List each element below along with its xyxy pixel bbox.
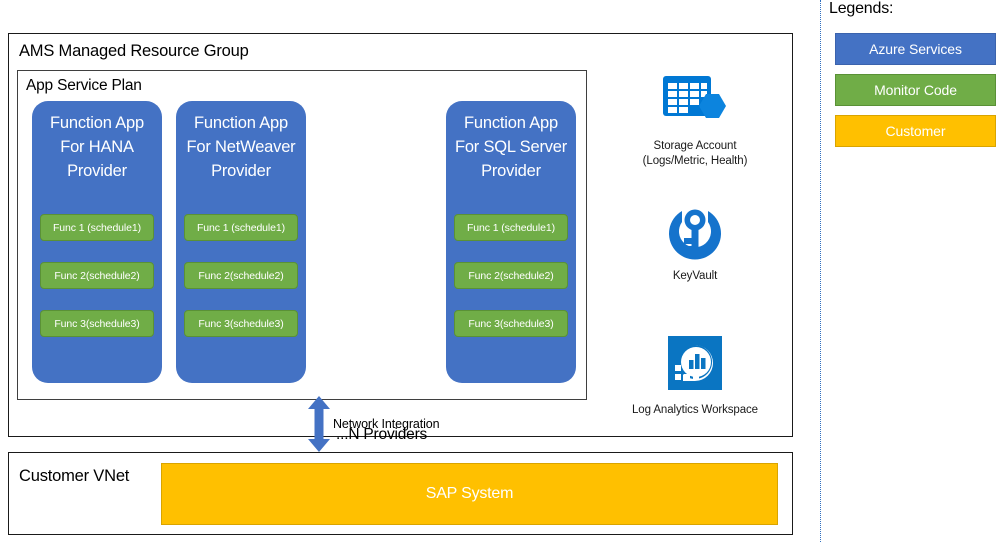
customer-vnet-container: Customer VNet SAP System — [8, 452, 793, 535]
function-list: Func 1 (schedule1) Func 2(schedule2) Fun… — [184, 214, 298, 358]
network-integration-label: Network Integration — [333, 417, 440, 431]
function-list: Func 1 (schedule1) Func 2(schedule2) Fun… — [454, 214, 568, 358]
storage-account-icon — [625, 70, 765, 136]
legend-title: Legends: — [829, 0, 893, 18]
function-app-title: Function App For SQL Server Provider — [450, 111, 572, 183]
function-app-card-hana[interactable]: Function App For HANA Provider Func 1 (s… — [32, 101, 162, 383]
function-item[interactable]: Func 2(schedule2) — [454, 262, 568, 289]
function-app-card-sql-server[interactable]: Function App For SQL Server Provider Fun… — [446, 101, 576, 383]
function-item[interactable]: Func 3(schedule3) — [184, 310, 298, 337]
function-item[interactable]: Func 2(schedule2) — [40, 262, 154, 289]
legend-divider — [820, 0, 821, 542]
keyvault-icon — [625, 200, 765, 266]
app-service-plan-container: App Service Plan Function App For HANA P… — [17, 70, 587, 400]
function-list: Func 1 (schedule1) Func 2(schedule2) Fun… — [40, 214, 154, 358]
service-caption: Storage Account (Logs/Metric, Health) — [625, 139, 765, 168]
function-item[interactable]: Func 1 (schedule1) — [40, 214, 154, 241]
service-caption: KeyVault — [625, 269, 765, 284]
sap-system-box[interactable]: SAP System — [161, 463, 778, 525]
function-item[interactable]: Func 1 (schedule1) — [184, 214, 298, 241]
double-arrow-vertical-icon — [305, 396, 333, 452]
function-item[interactable]: Func 2(schedule2) — [184, 262, 298, 289]
ams-managed-resource-group-container: AMS Managed Resource Group App Service P… — [8, 33, 793, 437]
function-app-title: Function App For NetWeaver Provider — [180, 111, 302, 183]
function-app-title: Function App For HANA Provider — [36, 111, 158, 183]
service-log-analytics-workspace[interactable]: Log Analytics Workspace — [625, 334, 765, 418]
legend-item-azure-services: Azure Services — [835, 33, 996, 65]
service-caption: Log Analytics Workspace — [625, 403, 765, 418]
ams-managed-resource-group-title: AMS Managed Resource Group — [19, 42, 249, 61]
function-app-card-netweaver[interactable]: Function App For NetWeaver Provider Func… — [176, 101, 306, 383]
service-keyvault[interactable]: KeyVault — [625, 200, 765, 284]
legend-item-customer: Customer — [835, 115, 996, 147]
app-service-plan-title: App Service Plan — [26, 77, 142, 95]
service-storage-account[interactable]: Storage Account (Logs/Metric, Health) — [625, 70, 765, 168]
function-item[interactable]: Func 1 (schedule1) — [454, 214, 568, 241]
function-item[interactable]: Func 3(schedule3) — [454, 310, 568, 337]
legend-item-monitor-code: Monitor Code — [835, 74, 996, 106]
log-analytics-workspace-icon — [625, 334, 765, 400]
function-item[interactable]: Func 3(schedule3) — [40, 310, 154, 337]
customer-vnet-title: Customer VNet — [19, 467, 129, 486]
